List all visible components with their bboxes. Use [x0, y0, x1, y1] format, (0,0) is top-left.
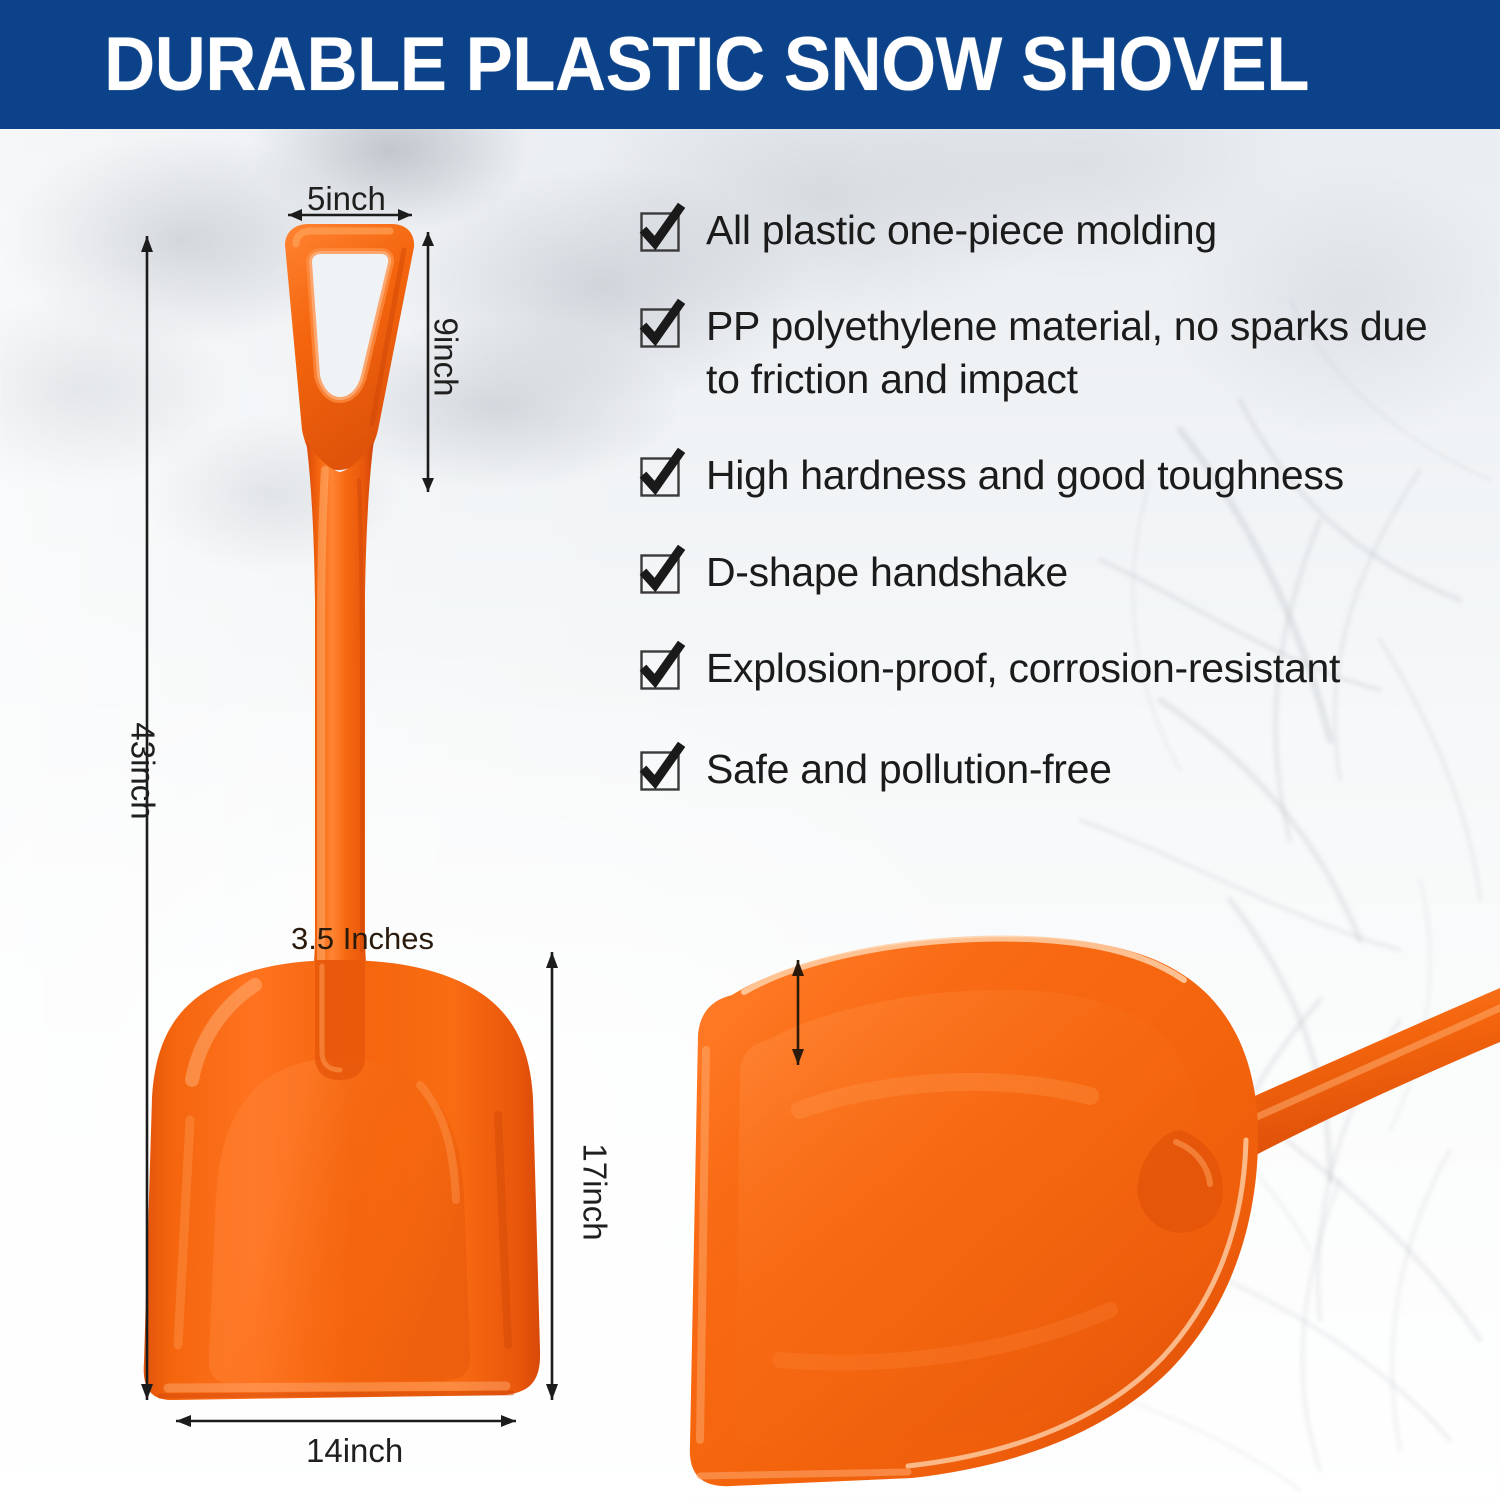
dimension-label-blade-width: 14inch — [306, 1432, 403, 1470]
dimension-label-blade-height: 17inch — [576, 1143, 614, 1240]
checkbox-checked-icon — [640, 308, 680, 348]
checkbox-checked-icon — [640, 212, 680, 252]
shovel-front-svg — [0, 0, 640, 1500]
feature-item: Explosion-proof, corrosion-resistant — [640, 642, 1460, 694]
dimension-arrow-blade-width — [176, 1415, 516, 1427]
checkbox-checked-icon — [640, 650, 680, 690]
shovel-angled-svg — [640, 930, 1500, 1500]
feature-item: Safe and pollution-free — [640, 743, 1460, 795]
dimension-label-handle-height: 9inch — [426, 318, 464, 397]
shovel-angled-figure: 3.5 Inches — [640, 930, 1500, 1500]
feature-label: Safe and pollution-free — [706, 743, 1112, 795]
dimension-label-handle-width: 5inch — [307, 180, 386, 218]
checkbox-checked-icon — [640, 457, 680, 497]
feature-label: D-shape handshake — [706, 546, 1068, 598]
checkbox-checked-icon — [640, 751, 680, 791]
feature-item: All plastic one-piece molding — [640, 204, 1460, 256]
feature-label: PP polyethylene material, no sparks due … — [706, 300, 1446, 405]
feature-item: PP polyethylene material, no sparks due … — [640, 300, 1460, 405]
product-infographic: DURABLE PLASTIC SNOW SHOVEL — [0, 0, 1500, 1500]
shovel-front-figure: 5inch 9inch 43inch 17inch 14inch — [0, 0, 640, 1500]
dimension-arrow-blade-height — [546, 952, 558, 1400]
feature-item: High hardness and good toughness — [640, 449, 1460, 501]
feature-label: High hardness and good toughness — [706, 449, 1344, 501]
shovel-angled-blade — [690, 937, 1258, 1486]
shovel-blade — [144, 960, 540, 1400]
shovel-shaft — [306, 440, 374, 1000]
feature-label: All plastic one-piece molding — [706, 204, 1217, 256]
dimension-label-blade-depth: 3.5 Inches — [291, 921, 434, 957]
feature-label: Explosion-proof, corrosion-resistant — [706, 642, 1340, 694]
feature-list: All plastic one-piece molding PP polyeth… — [640, 204, 1460, 795]
dimension-label-total-length: 43inch — [124, 722, 162, 819]
checkbox-checked-icon — [640, 554, 680, 594]
feature-item: D-shape handshake — [640, 546, 1460, 598]
